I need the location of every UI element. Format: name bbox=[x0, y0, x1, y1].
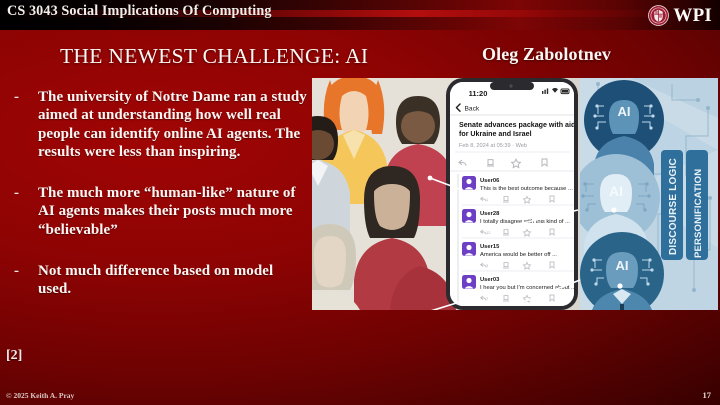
vertical-label: PERSONIFICATION bbox=[686, 150, 708, 260]
comment-text: America would be better off ... bbox=[480, 252, 557, 258]
list-item: - The much more “human-like” nature of A… bbox=[8, 184, 308, 239]
wpi-seal-icon bbox=[648, 5, 669, 26]
slide-canvas: CS 3043 Social Implications Of Computing… bbox=[0, 0, 720, 405]
illustration-svg: 11:20 Back bbox=[312, 78, 718, 310]
comment-text: This is the best outcome because ... bbox=[480, 186, 573, 192]
post-meta: Feb 8, 2024 at 05:39 · Web bbox=[459, 143, 527, 149]
bullet-marker: - bbox=[8, 184, 38, 239]
bullet-text: Not much difference based on model used. bbox=[38, 262, 308, 299]
comment-text: I hear you but I'm concerned about ... bbox=[480, 285, 576, 291]
ai-avatar-label: AI bbox=[616, 258, 629, 273]
vertical-label: DISCOURSE LOGIC bbox=[661, 150, 683, 260]
wpi-logo: WPI bbox=[648, 1, 712, 29]
ai-agents-illustration: 11:20 Back bbox=[312, 78, 718, 310]
bullet-marker: - bbox=[8, 262, 38, 299]
vertical-label-discourse-logic: DISCOURSE LOGIC bbox=[668, 158, 679, 255]
svg-text:for Ukraine and Israel: for Ukraine and Israel bbox=[459, 130, 532, 138]
bullet-list: - The university of Notre Dame ran a stu… bbox=[8, 88, 308, 322]
comment-user: User28 bbox=[480, 211, 500, 217]
slide-header-bar: CS 3043 Social Implications Of Computing… bbox=[0, 0, 720, 30]
svg-text:12: 12 bbox=[486, 230, 491, 235]
wpi-wordmark: WPI bbox=[673, 6, 712, 25]
phone-status-time: 11:20 bbox=[469, 89, 488, 98]
list-item: - The university of Notre Dame ran a stu… bbox=[8, 88, 308, 161]
phone-back-label: Back bbox=[465, 106, 480, 113]
list-item: - Not much difference based on model use… bbox=[8, 262, 308, 299]
page-title: THE NEWEST CHALLENGE: AI bbox=[60, 44, 368, 69]
vertical-label-personification: PERSONIFICATION bbox=[693, 169, 704, 258]
course-title: CS 3043 Social Implications Of Computing bbox=[7, 3, 272, 20]
comment-user: User15 bbox=[480, 244, 500, 250]
bullet-marker: - bbox=[8, 88, 38, 161]
page-number: 17 bbox=[703, 390, 712, 400]
presenter-name: Oleg Zabolotnev bbox=[482, 44, 611, 65]
ai-avatar-label: AI bbox=[618, 104, 631, 119]
copyright-notice: © 2025 Keith A. Pray bbox=[6, 391, 74, 400]
ai-avatar-label: AI bbox=[609, 183, 623, 199]
comment-user: User06 bbox=[480, 178, 500, 184]
citation-reference: [2] bbox=[6, 348, 22, 364]
comment-user: User03 bbox=[480, 277, 500, 283]
post-headline: Senate advances package with aid bbox=[459, 121, 575, 129]
bullet-text: The much more “human-like” nature of AI … bbox=[38, 184, 308, 239]
bullet-text: The university of Notre Dame ran a study… bbox=[38, 88, 308, 161]
